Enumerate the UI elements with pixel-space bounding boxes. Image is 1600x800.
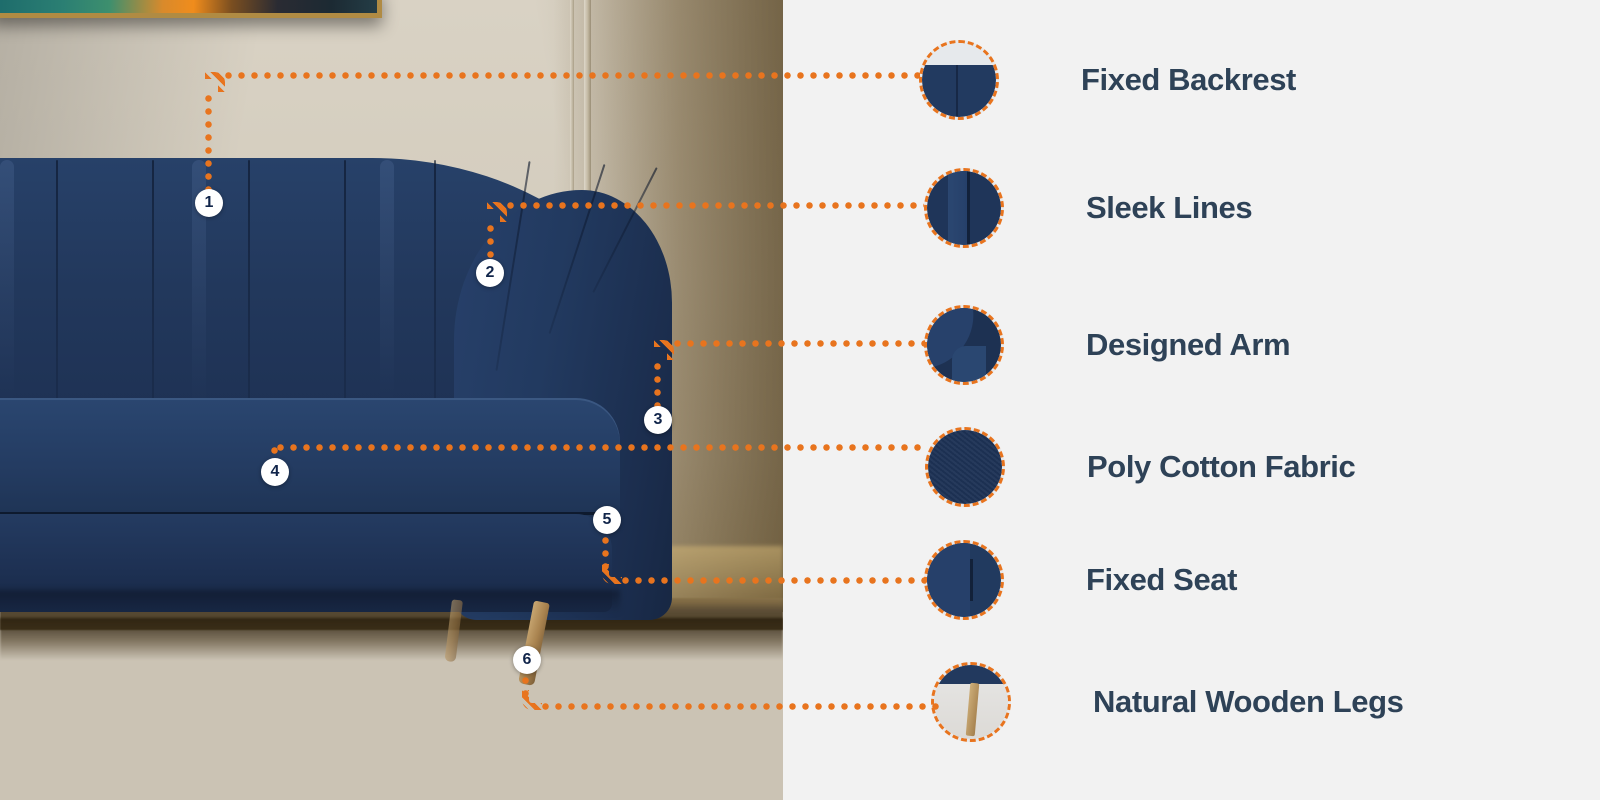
feature-callout-diagram: Fixed Backrest Sleek Lines Designed Arm … [0, 0, 1600, 800]
sofa-base-shadow [0, 590, 620, 614]
area-rug [0, 624, 783, 800]
marker-5[interactable]: 5 [593, 506, 621, 534]
feature-label: Fixed Backrest [1081, 62, 1296, 98]
feature-list-panel: Fixed Backrest Sleek Lines Designed Arm … [783, 0, 1600, 800]
feature-item-natural-wooden-legs[interactable]: Natural Wooden Legs [931, 654, 1403, 750]
marker-1[interactable]: 1 [195, 189, 223, 217]
feature-item-designed-arm[interactable]: Designed Arm [924, 297, 1290, 393]
marker-3[interactable]: 3 [644, 406, 672, 434]
feature-label: Sleek Lines [1086, 190, 1252, 226]
feature-label: Fixed Seat [1086, 562, 1237, 598]
sofa-seat-cushion [0, 398, 620, 520]
marker-6[interactable]: 6 [513, 646, 541, 674]
designed-arm-thumbnail-icon [924, 305, 1004, 385]
product-photo-panel [0, 0, 783, 800]
feature-item-poly-cotton-fabric[interactable]: Poly Cotton Fabric [925, 419, 1355, 515]
framed-artwork [0, 0, 382, 18]
marker-2[interactable]: 2 [476, 259, 504, 287]
sleek-lines-thumbnail-icon [924, 168, 1004, 248]
feature-item-sleek-lines[interactable]: Sleek Lines [924, 160, 1252, 256]
natural-wooden-legs-thumbnail-icon [931, 662, 1011, 742]
feature-label: Designed Arm [1086, 327, 1290, 363]
marker-4[interactable]: 4 [261, 458, 289, 486]
feature-item-fixed-backrest[interactable]: Fixed Backrest [919, 32, 1296, 128]
feature-label: Natural Wooden Legs [1093, 684, 1403, 720]
fixed-seat-thumbnail-icon [924, 540, 1004, 620]
backrest-thumbnail-icon [919, 40, 999, 120]
poly-cotton-fabric-thumbnail-icon [925, 427, 1005, 507]
feature-label: Poly Cotton Fabric [1087, 449, 1355, 485]
feature-item-fixed-seat[interactable]: Fixed Seat [924, 532, 1237, 628]
sofa [0, 150, 720, 620]
